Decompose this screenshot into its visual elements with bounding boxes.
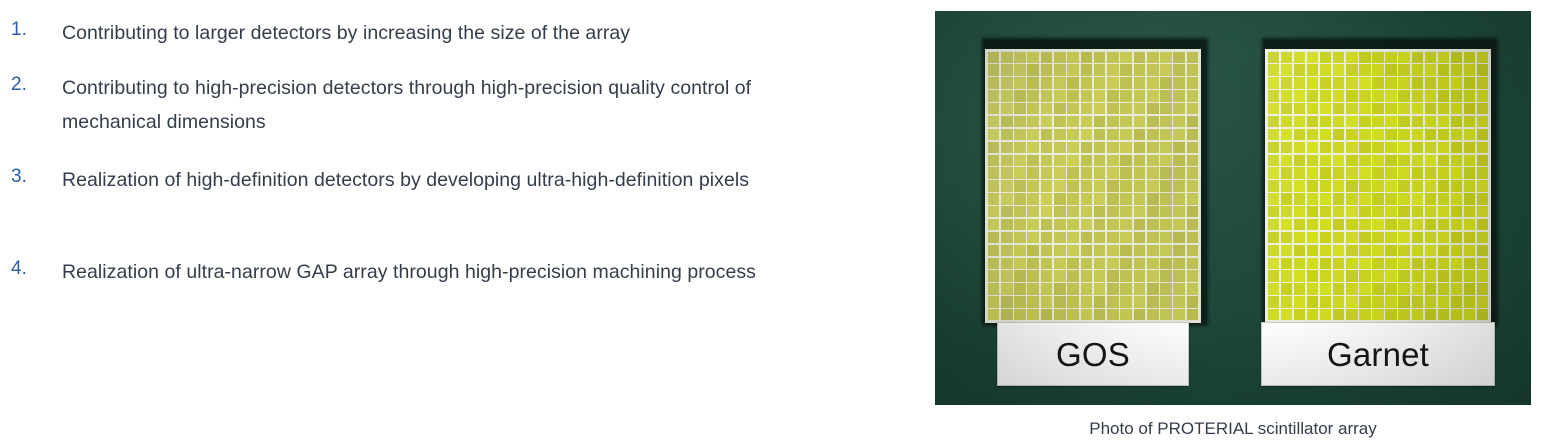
scintillator-cell	[1333, 245, 1344, 256]
scintillator-cell	[1359, 142, 1370, 153]
garnet-array-grid	[1265, 49, 1491, 323]
scintillator-cell	[1081, 258, 1093, 269]
scintillator-cell	[1120, 90, 1132, 101]
scintillator-cell	[1307, 270, 1319, 281]
scintillator-cell	[1398, 219, 1410, 230]
scintillator-cell	[1477, 258, 1489, 269]
scintillator-cell	[1094, 90, 1106, 101]
scintillator-array-photo: GOS Garnet	[935, 11, 1531, 405]
scintillator-cell	[1346, 206, 1358, 217]
scintillator-cell	[1281, 193, 1292, 204]
scintillator-cell	[1147, 167, 1159, 178]
scintillator-cell	[1398, 155, 1410, 166]
scintillator-cell	[1398, 258, 1410, 269]
scintillator-cell	[1268, 180, 1279, 191]
scintillator-cell	[1346, 142, 1358, 153]
scintillator-cell	[1067, 283, 1079, 294]
scintillator-cell	[1294, 206, 1305, 217]
scintillator-cell	[1346, 90, 1358, 101]
scintillator-cell	[1320, 258, 1331, 269]
scintillator-cell	[1359, 309, 1370, 320]
scintillator-cell	[1081, 64, 1093, 75]
scintillator-cell	[1054, 167, 1066, 178]
scintillator-cell	[1320, 52, 1331, 63]
scintillator-cell	[1120, 167, 1132, 178]
scintillator-cell	[1425, 167, 1436, 178]
scintillator-cell	[1107, 129, 1119, 140]
scintillator-cell	[1346, 129, 1358, 140]
scintillator-cell	[1438, 245, 1450, 256]
scintillator-cell	[1054, 283, 1066, 294]
scintillator-cell	[1307, 129, 1319, 140]
scintillator-cell	[1333, 52, 1344, 63]
scintillator-cell	[1041, 155, 1053, 166]
scintillator-cell	[1067, 142, 1079, 153]
scintillator-cell	[1134, 142, 1146, 153]
scintillator-cell	[1094, 155, 1106, 166]
scintillator-cell	[1147, 116, 1159, 127]
scintillator-cell	[1333, 90, 1344, 101]
scintillator-cell	[1268, 64, 1279, 75]
scintillator-cell	[1107, 103, 1119, 114]
scintillator-cell	[1281, 232, 1292, 243]
scintillator-cell	[1001, 296, 1013, 307]
scintillator-cell	[1081, 167, 1093, 178]
scintillator-cell	[1041, 232, 1053, 243]
scintillator-cell	[1372, 193, 1383, 204]
scintillator-cell	[1333, 64, 1344, 75]
scintillator-cell	[1438, 64, 1450, 75]
scintillator-cell	[1333, 193, 1344, 204]
scintillator-cell	[1134, 77, 1146, 88]
scintillator-cell	[1359, 103, 1370, 114]
scintillator-cell	[1398, 129, 1410, 140]
scintillator-cell	[1333, 103, 1344, 114]
scintillator-cell	[1359, 129, 1370, 140]
scintillator-cell	[1041, 206, 1053, 217]
scintillator-cell	[1412, 245, 1423, 256]
scintillator-cell	[1294, 258, 1305, 269]
scintillator-cell	[1187, 142, 1199, 153]
scintillator-cell	[1067, 180, 1079, 191]
scintillator-cell	[1041, 116, 1053, 127]
scintillator-cell	[1001, 142, 1013, 153]
scintillator-cell	[1041, 219, 1053, 230]
scintillator-cell	[1451, 309, 1462, 320]
scintillator-cell	[1346, 309, 1358, 320]
list-item-number: 3.	[0, 163, 62, 191]
scintillator-cell	[1147, 258, 1159, 269]
scintillator-cell	[1477, 193, 1489, 204]
scintillator-cell	[1147, 206, 1159, 217]
scintillator-cell	[988, 103, 1000, 114]
list-item: 3. Realization of high-definition detect…	[0, 163, 860, 197]
scintillator-cell	[1320, 103, 1331, 114]
scintillator-cell	[1173, 103, 1185, 114]
scintillator-cell	[1107, 90, 1119, 101]
scintillator-cell	[1160, 309, 1172, 320]
scintillator-cell	[1412, 64, 1423, 75]
scintillator-cell	[1359, 180, 1370, 191]
scintillator-cell	[1054, 245, 1066, 256]
scintillator-cell	[1134, 116, 1146, 127]
scintillator-cell	[1294, 167, 1305, 178]
scintillator-cell	[1464, 142, 1475, 153]
scintillator-cell	[1173, 245, 1185, 256]
scintillator-cell	[1067, 90, 1079, 101]
scintillator-cell	[1281, 64, 1292, 75]
scintillator-cell	[1464, 116, 1475, 127]
scintillator-cell	[1027, 270, 1039, 281]
scintillator-cell	[1346, 258, 1358, 269]
scintillator-cell	[1398, 232, 1410, 243]
scintillator-cell	[1464, 167, 1475, 178]
scintillator-cell	[1134, 180, 1146, 191]
scintillator-cell	[1147, 90, 1159, 101]
scintillator-cell	[1027, 129, 1039, 140]
scintillator-cell	[1451, 167, 1462, 178]
scintillator-cell	[1320, 167, 1331, 178]
list-item-text: Contributing to larger detectors by incr…	[62, 16, 762, 50]
scintillator-cell	[1120, 116, 1132, 127]
scintillator-cell	[1173, 283, 1185, 294]
scintillator-cell	[1160, 206, 1172, 217]
scintillator-cell	[1307, 283, 1319, 294]
scintillator-cell	[1425, 90, 1436, 101]
scintillator-cell	[1320, 283, 1331, 294]
list-item-number: 1.	[0, 16, 62, 44]
scintillator-cell	[1281, 206, 1292, 217]
scintillator-cell	[1081, 77, 1093, 88]
scintillator-cell	[1134, 258, 1146, 269]
scintillator-cell	[1346, 180, 1358, 191]
scintillator-cell	[1477, 52, 1489, 63]
scintillator-cell	[988, 219, 1000, 230]
scintillator-cell	[1451, 142, 1462, 153]
scintillator-cell	[1027, 206, 1039, 217]
garnet-label-box: Garnet	[1261, 322, 1495, 386]
scintillator-cell	[1372, 258, 1383, 269]
scintillator-cell	[1451, 283, 1462, 294]
scintillator-cell	[1359, 245, 1370, 256]
list-item-text: Realization of high-definition detectors…	[62, 163, 762, 197]
scintillator-cell	[1294, 116, 1305, 127]
scintillator-cell	[1173, 116, 1185, 127]
scintillator-cell	[1294, 77, 1305, 88]
scintillator-cell	[1438, 206, 1450, 217]
scintillator-cell	[1359, 219, 1370, 230]
scintillator-cell	[1107, 64, 1119, 75]
scintillator-cell	[1187, 219, 1199, 230]
scintillator-cell	[1307, 193, 1319, 204]
scintillator-cell	[1372, 219, 1383, 230]
scintillator-cell	[1412, 270, 1423, 281]
scintillator-cell	[1346, 219, 1358, 230]
scintillator-cell	[1187, 296, 1199, 307]
scintillator-cell	[1372, 142, 1383, 153]
scintillator-cell	[1372, 129, 1383, 140]
photo-caption: Photo of PROTERIAL scintillator array	[935, 418, 1531, 440]
scintillator-cell	[1346, 64, 1358, 75]
numbered-list: 1. Contributing to larger detectors by i…	[0, 0, 900, 444]
scintillator-cell	[1333, 309, 1344, 320]
scintillator-cell	[1359, 258, 1370, 269]
scintillator-cell	[1067, 129, 1079, 140]
scintillator-cell	[1346, 116, 1358, 127]
scintillator-cell	[1385, 296, 1396, 307]
scintillator-cell	[1094, 193, 1106, 204]
scintillator-cell	[1027, 167, 1039, 178]
scintillator-cell	[1281, 77, 1292, 88]
scintillator-cell	[1054, 77, 1066, 88]
scintillator-cell	[1477, 103, 1489, 114]
scintillator-cell	[1438, 258, 1450, 269]
scintillator-cell	[1333, 142, 1344, 153]
scintillator-cell	[1359, 283, 1370, 294]
scintillator-cell	[1134, 103, 1146, 114]
scintillator-cell	[988, 77, 1000, 88]
scintillator-cell	[1187, 155, 1199, 166]
scintillator-cell	[1268, 232, 1279, 243]
scintillator-cell	[1027, 155, 1039, 166]
scintillator-cell	[1412, 103, 1423, 114]
scintillator-cell	[1054, 103, 1066, 114]
scintillator-cell	[1268, 309, 1279, 320]
scintillator-cell	[1120, 77, 1132, 88]
scintillator-cell	[1320, 219, 1331, 230]
scintillator-cell	[1081, 142, 1093, 153]
gos-array	[985, 49, 1201, 323]
scintillator-cell	[988, 155, 1000, 166]
scintillator-cell	[1120, 103, 1132, 114]
scintillator-cell	[1412, 142, 1423, 153]
scintillator-cell	[1134, 270, 1146, 281]
scintillator-cell	[1372, 180, 1383, 191]
scintillator-cell	[1147, 155, 1159, 166]
scintillator-cell	[1027, 180, 1039, 191]
scintillator-cell	[1294, 193, 1305, 204]
scintillator-cell	[1268, 77, 1279, 88]
scintillator-cell	[1398, 245, 1410, 256]
scintillator-cell	[1385, 77, 1396, 88]
scintillator-cell	[1067, 296, 1079, 307]
scintillator-cell	[1438, 232, 1450, 243]
scintillator-cell	[1425, 116, 1436, 127]
scintillator-cell	[1464, 52, 1475, 63]
scintillator-cell	[1054, 129, 1066, 140]
scintillator-cell	[1081, 309, 1093, 320]
scintillator-cell	[1094, 103, 1106, 114]
scintillator-cell	[1425, 232, 1436, 243]
scintillator-cell	[1398, 270, 1410, 281]
scintillator-cell	[1307, 90, 1319, 101]
scintillator-cell	[988, 258, 1000, 269]
scintillator-cell	[1094, 52, 1106, 63]
scintillator-cell	[1320, 90, 1331, 101]
scintillator-cell	[1320, 232, 1331, 243]
scintillator-cell	[1187, 52, 1199, 63]
scintillator-cell	[1094, 258, 1106, 269]
scintillator-cell	[1451, 180, 1462, 191]
scintillator-cell	[1346, 296, 1358, 307]
scintillator-cell	[1333, 206, 1344, 217]
scintillator-cell	[1294, 103, 1305, 114]
scintillator-cell	[1041, 309, 1053, 320]
scintillator-cell	[1041, 193, 1053, 204]
scintillator-cell	[1173, 77, 1185, 88]
scintillator-cell	[1268, 155, 1279, 166]
scintillator-cell	[1081, 155, 1093, 166]
scintillator-cell	[1054, 180, 1066, 191]
scintillator-cell	[1187, 64, 1199, 75]
scintillator-cell	[1081, 116, 1093, 127]
scintillator-cell	[1425, 270, 1436, 281]
scintillator-cell	[1451, 270, 1462, 281]
scintillator-cell	[1027, 232, 1039, 243]
scintillator-cell	[1372, 245, 1383, 256]
scintillator-cell	[1425, 77, 1436, 88]
scintillator-cell	[1134, 155, 1146, 166]
scintillator-cell	[1027, 283, 1039, 294]
list-item-text: Realization of ultra-narrow GAP array th…	[62, 255, 762, 289]
scintillator-cell	[1294, 296, 1305, 307]
scintillator-cell	[1412, 167, 1423, 178]
scintillator-cell	[1081, 103, 1093, 114]
scintillator-cell	[1187, 270, 1199, 281]
scintillator-cell	[1094, 142, 1106, 153]
scintillator-cell	[1041, 258, 1053, 269]
scintillator-cell	[1281, 283, 1292, 294]
scintillator-cell	[1425, 258, 1436, 269]
scintillator-cell	[1412, 90, 1423, 101]
scintillator-cell	[1451, 103, 1462, 114]
scintillator-cell	[1333, 232, 1344, 243]
scintillator-cell	[1307, 167, 1319, 178]
gos-array-grid	[985, 49, 1201, 323]
scintillator-cell	[1268, 129, 1279, 140]
scintillator-cell	[1120, 270, 1132, 281]
scintillator-cell	[1385, 193, 1396, 204]
scintillator-cell	[988, 116, 1000, 127]
scintillator-cell	[1385, 155, 1396, 166]
scintillator-cell	[1333, 258, 1344, 269]
scintillator-cell	[1477, 283, 1489, 294]
scintillator-cell	[1333, 155, 1344, 166]
scintillator-cell	[1398, 64, 1410, 75]
scintillator-cell	[1120, 155, 1132, 166]
scintillator-cell	[1120, 296, 1132, 307]
scintillator-cell	[988, 167, 1000, 178]
scintillator-cell	[1067, 167, 1079, 178]
list-item: 1. Contributing to larger detectors by i…	[0, 16, 860, 50]
scintillator-cell	[1147, 245, 1159, 256]
scintillator-cell	[1067, 270, 1079, 281]
scintillator-cell	[1477, 77, 1489, 88]
scintillator-cell	[1385, 309, 1396, 320]
scintillator-cell	[1094, 64, 1106, 75]
scintillator-cell	[1294, 90, 1305, 101]
scintillator-cell	[1451, 245, 1462, 256]
scintillator-cell	[1054, 193, 1066, 204]
list-item-number: 2.	[0, 71, 62, 99]
scintillator-cell	[1001, 90, 1013, 101]
scintillator-cell	[1451, 232, 1462, 243]
scintillator-cell	[1464, 155, 1475, 166]
scintillator-cell	[1027, 90, 1039, 101]
scintillator-cell	[1107, 155, 1119, 166]
scintillator-cell	[1014, 219, 1026, 230]
scintillator-cell	[1134, 296, 1146, 307]
scintillator-cell	[1294, 232, 1305, 243]
scintillator-cell	[1372, 283, 1383, 294]
scintillator-cell	[1094, 219, 1106, 230]
scintillator-cell	[1160, 270, 1172, 281]
scintillator-cell	[1372, 296, 1383, 307]
scintillator-cell	[1134, 245, 1146, 256]
scintillator-cell	[1425, 283, 1436, 294]
scintillator-cell	[1438, 52, 1450, 63]
scintillator-cell	[1268, 142, 1279, 153]
scintillator-cell	[1041, 296, 1053, 307]
scintillator-cell	[1134, 52, 1146, 63]
scintillator-cell	[1359, 52, 1370, 63]
scintillator-cell	[988, 52, 1000, 63]
scintillator-cell	[1398, 116, 1410, 127]
scintillator-cell	[1294, 245, 1305, 256]
scintillator-cell	[1385, 129, 1396, 140]
scintillator-cell	[1120, 206, 1132, 217]
scintillator-cell	[1147, 142, 1159, 153]
scintillator-cell	[1187, 193, 1199, 204]
scintillator-cell	[1464, 64, 1475, 75]
scintillator-cell	[1160, 283, 1172, 294]
scintillator-cell	[1001, 77, 1013, 88]
scintillator-cell	[988, 180, 1000, 191]
scintillator-cell	[1173, 142, 1185, 153]
scintillator-cell	[1425, 296, 1436, 307]
gos-label-text: GOS	[1056, 338, 1130, 371]
scintillator-cell	[1187, 232, 1199, 243]
scintillator-cell	[1451, 206, 1462, 217]
scintillator-cell	[1014, 232, 1026, 243]
scintillator-cell	[1333, 180, 1344, 191]
scintillator-cell	[1346, 167, 1358, 178]
scintillator-cell	[1294, 219, 1305, 230]
scintillator-cell	[1385, 142, 1396, 153]
scintillator-cell	[1464, 193, 1475, 204]
scintillator-cell	[1067, 116, 1079, 127]
scintillator-cell	[1359, 167, 1370, 178]
scintillator-cell	[1425, 129, 1436, 140]
scintillator-cell	[1268, 245, 1279, 256]
scintillator-cell	[1107, 206, 1119, 217]
scintillator-cell	[1464, 180, 1475, 191]
scintillator-cell	[1359, 206, 1370, 217]
scintillator-cell	[1320, 270, 1331, 281]
scintillator-cell	[1268, 167, 1279, 178]
scintillator-cell	[1147, 296, 1159, 307]
scintillator-cell	[1425, 103, 1436, 114]
scintillator-cell	[1134, 90, 1146, 101]
scintillator-cell	[1160, 155, 1172, 166]
scintillator-cell	[1398, 77, 1410, 88]
scintillator-cell	[1173, 309, 1185, 320]
scintillator-cell	[1398, 103, 1410, 114]
scintillator-cell	[1307, 116, 1319, 127]
scintillator-cell	[1081, 180, 1093, 191]
scintillator-cell	[1333, 270, 1344, 281]
scintillator-cell	[988, 309, 1000, 320]
